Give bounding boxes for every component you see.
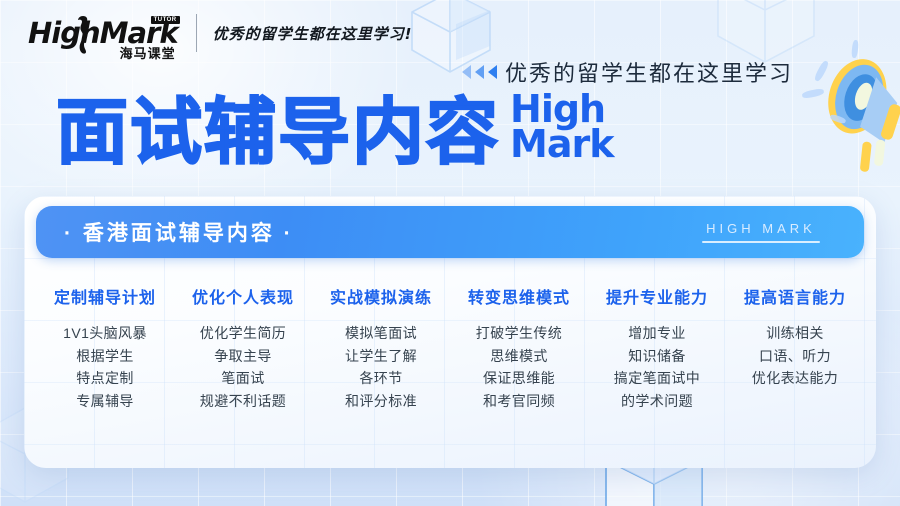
brand-slogan: 优秀的留学生都在这里学习! — [213, 23, 413, 44]
feature-line: 模拟笔面试 — [316, 322, 446, 345]
feature-columns: 定制辅导计划 1V1头脑风暴 根据学生 特点定制 专属辅导 优化个人表现 优化学… — [36, 284, 864, 413]
feature-heading: 实战模拟演练 — [316, 284, 446, 308]
triangle-left-icon — [488, 65, 497, 79]
feature-line: 1V1头脑风暴 — [40, 322, 170, 345]
feature-line: 特点定制 — [40, 367, 170, 390]
hero-eyebrow-text: 优秀的留学生都在这里学习 — [505, 56, 793, 88]
card-header-underline — [702, 241, 820, 243]
feature-heading: 定制辅导计划 — [40, 284, 170, 308]
triangle-left-icon — [475, 65, 484, 79]
feature-line: 争取主导 — [178, 345, 308, 368]
feature-line: 根据学生 — [40, 345, 170, 368]
feature-line: 知识储备 — [592, 345, 722, 368]
card-header-mark: HIGH MARK — [702, 221, 838, 243]
card-header-mark-text: HIGH MARK — [702, 221, 820, 236]
feature-column: 优化个人表现 优化学生简历 争取主导 笔面试 规避不利话题 — [174, 284, 312, 413]
triangle-arrows-icon — [462, 65, 497, 79]
feature-column: 定制辅导计划 1V1头脑风暴 根据学生 特点定制 专属辅导 — [36, 284, 174, 413]
hero-title-en-line2: Mark — [510, 127, 613, 162]
poster-canvas: HighMark TUTOR 海马课堂 优秀的留学生都在这里学习! 优秀的留学生… — [0, 0, 900, 506]
feature-line: 和评分标准 — [316, 390, 446, 413]
feature-heading: 提高语言能力 — [730, 284, 860, 308]
hero-eyebrow: 优秀的留学生都在这里学习 — [462, 56, 793, 88]
feature-line: 优化学生简历 — [178, 322, 308, 345]
hero-headline: 面试辅导内容 High Mark — [56, 92, 613, 166]
card-title: · 香港面试辅导内容 · — [64, 217, 294, 247]
feature-line: 口语、听力 — [730, 345, 860, 368]
hero-title-english: High Mark — [510, 92, 613, 166]
feature-heading: 转变思维模式 — [454, 284, 584, 308]
feature-line: 训练相关 — [730, 322, 860, 345]
feature-line: 让学生了解 — [316, 345, 446, 368]
page-title: 面试辅导内容 — [56, 98, 500, 166]
feature-line: 优化表达能力 — [730, 367, 860, 390]
megaphone-icon — [800, 34, 900, 184]
logo-block: HighMark TUTOR 海马课堂 — [28, 19, 178, 48]
feature-line: 和考官同频 — [454, 390, 584, 413]
card-header-bar: · 香港面试辅导内容 · HIGH MARK — [36, 206, 864, 258]
feature-line: 的学术问题 — [592, 390, 722, 413]
feature-line: 规避不利话题 — [178, 390, 308, 413]
feature-line: 打破学生传统 — [454, 322, 584, 345]
feature-line: 思维模式 — [454, 345, 584, 368]
feature-column: 实战模拟演练 模拟笔面试 让学生了解 各环节 和评分标准 — [312, 284, 450, 413]
feature-heading: 优化个人表现 — [178, 284, 308, 308]
feature-line: 保证思维能 — [454, 367, 584, 390]
feature-line: 搞定笔面试中 — [592, 367, 722, 390]
feature-line: 专属辅导 — [40, 390, 170, 413]
content-card: · 香港面试辅导内容 · HIGH MARK 定制辅导计划 1V1头脑风暴 根据… — [24, 196, 876, 468]
feature-column: 提高语言能力 训练相关 口语、听力 优化表达能力 — [726, 284, 864, 413]
logo-tutor-badge: TUTOR — [151, 16, 180, 24]
seahorse-icon — [74, 14, 90, 54]
feature-column: 转变思维模式 打破学生传统 思维模式 保证思维能 和考官同频 — [450, 284, 588, 413]
feature-line: 笔面试 — [178, 367, 308, 390]
logo-divider — [196, 14, 197, 52]
feature-column: 提升专业能力 增加专业 知识储备 搞定笔面试中 的学术问题 — [588, 284, 726, 413]
logo-chinese-name: 海马课堂 — [120, 43, 176, 62]
triangle-left-icon — [462, 65, 471, 79]
feature-line: 增加专业 — [592, 322, 722, 345]
feature-line: 各环节 — [316, 367, 446, 390]
feature-heading: 提升专业能力 — [592, 284, 722, 308]
brand-logo[interactable]: HighMark TUTOR 海马课堂 优秀的留学生都在这里学习! — [28, 14, 412, 52]
